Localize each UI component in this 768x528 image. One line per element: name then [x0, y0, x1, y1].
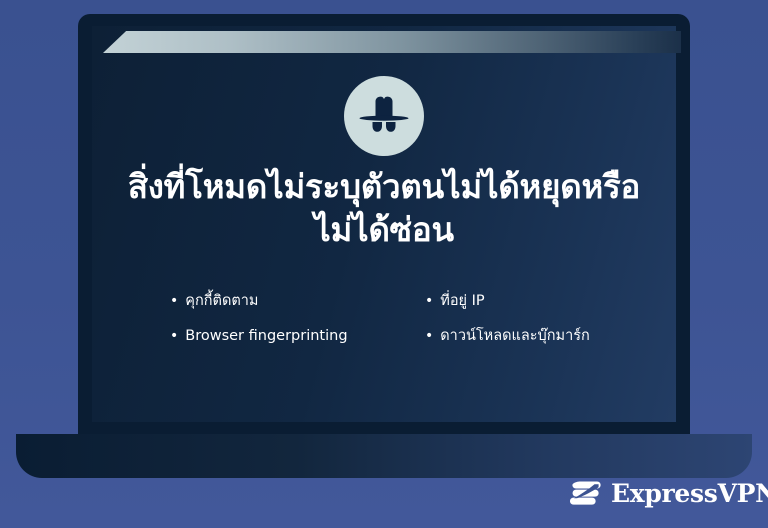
bullet-marker-icon: • — [170, 294, 178, 308]
list-item-label: ที่อยู่ IP — [440, 292, 484, 310]
bullet-marker-icon: • — [425, 294, 433, 308]
laptop-base — [16, 434, 752, 478]
expressvpn-wordmark: ExpressVPN — [611, 481, 768, 506]
list-item: • ที่อยู่ IP — [425, 292, 610, 310]
incognito-icon — [344, 76, 424, 156]
bullet-marker-icon: • — [170, 329, 178, 343]
bullet-column-right: • ที่อยู่ IP • ดาวน์โหลดและบุ๊กมาร์ก — [425, 292, 610, 345]
incognito-icon-glyph — [344, 76, 424, 156]
infographic-canvas: สิ่งที่โหมดไม่ระบุตัวตนไม่ได้หยุดหรือ ไม… — [0, 0, 768, 528]
list-item: • ดาวน์โหลดและบุ๊กมาร์ก — [425, 327, 610, 345]
screen-glare-stripe — [103, 31, 681, 53]
list-item-label: คุกกี้ติดตาม — [185, 292, 258, 310]
bullet-column-left: • คุกกี้ติดตาม • Browser fingerprinting — [170, 292, 425, 345]
list-item-label: ดาวน์โหลดและบุ๊กมาร์ก — [440, 327, 590, 345]
bullet-list-group: • คุกกี้ติดตาม • Browser fingerprinting … — [170, 292, 610, 345]
list-item-label: Browser fingerprinting — [185, 327, 347, 345]
expressvpn-logo: ExpressVPN — [568, 476, 768, 510]
headline-line-1: สิ่งที่โหมดไม่ระบุตัวตนไม่ได้หยุดหรือ — [96, 166, 672, 209]
bullet-marker-icon: • — [425, 329, 433, 343]
expressvpn-logo-mark-icon — [568, 476, 602, 510]
page-title: สิ่งที่โหมดไม่ระบุตัวตนไม่ได้หยุดหรือ ไม… — [96, 166, 672, 252]
headline-line-2: ไม่ได้ซ่อน — [96, 209, 672, 252]
list-item: • Browser fingerprinting — [170, 327, 425, 345]
list-item: • คุกกี้ติดตาม — [170, 292, 425, 310]
